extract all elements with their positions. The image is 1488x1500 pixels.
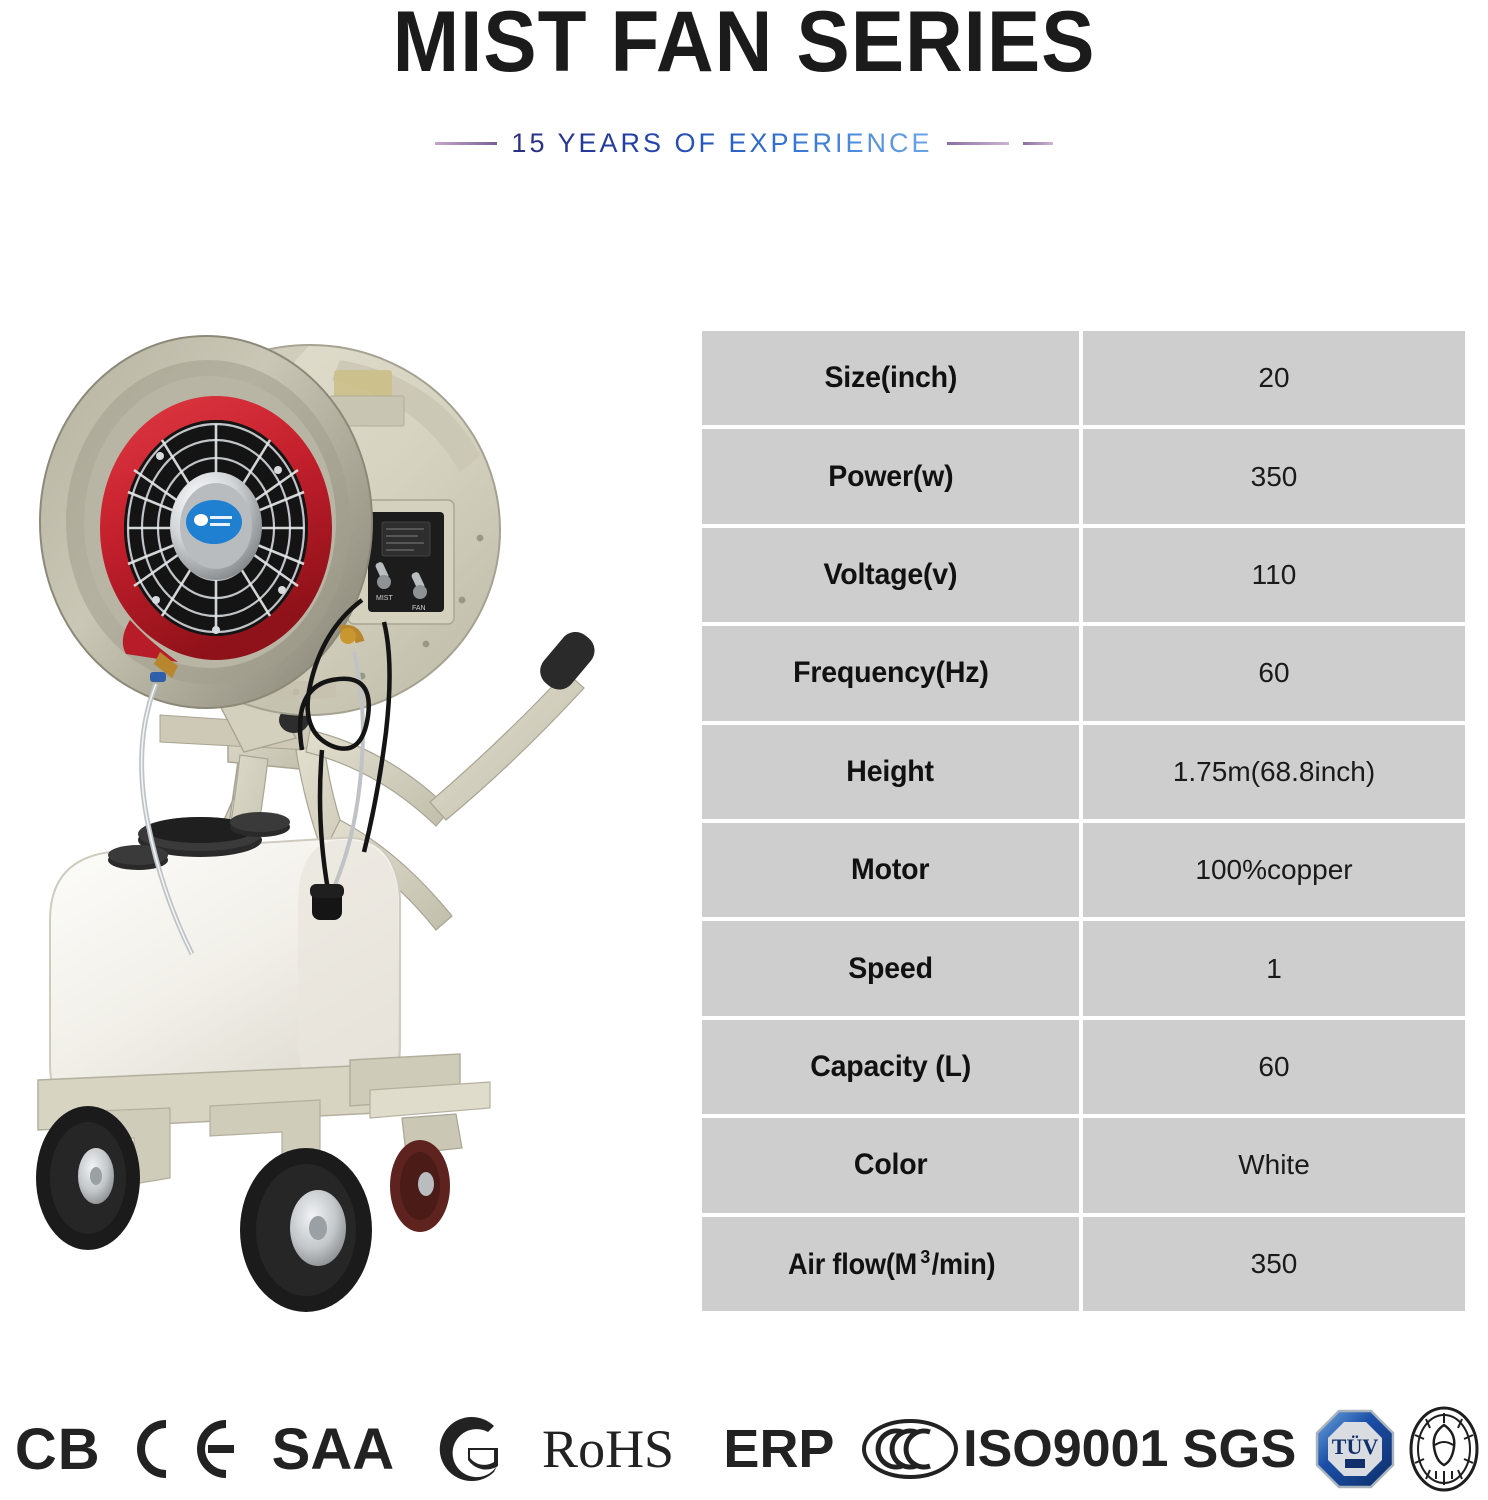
table-row: Voltage(v) 110 (702, 528, 1465, 626)
spec-value: 1.75m(68.8inch) (1083, 725, 1465, 819)
table-row: Color White (702, 1118, 1465, 1216)
oval-seal-icon (1405, 1405, 1483, 1493)
table-row: Air flow(M3/min) 350 (702, 1217, 1465, 1311)
spec-label: Frequency(Hz) (702, 626, 1079, 720)
power-plug (310, 884, 344, 920)
seal-logo (1399, 1398, 1488, 1500)
spec-value: 60 (1083, 1020, 1465, 1114)
tuv-badge-icon: TÜV (1313, 1407, 1397, 1491)
ce-logo (115, 1398, 248, 1500)
table-row: Size(inch) 20 (702, 331, 1465, 429)
spec-value: 100%copper (1083, 823, 1465, 917)
ccc-logo (857, 1398, 964, 1500)
tuv-logo: TÜV (1310, 1398, 1399, 1500)
spec-label: Size(inch) (702, 331, 1079, 425)
product-image: MIST FAN (10, 300, 670, 1320)
table-row: Speed 1 (702, 921, 1465, 1019)
wheel-front (240, 1148, 372, 1312)
specification-table: Size(inch) 20 Power(w) 350 Voltage(v) 11… (702, 331, 1465, 1311)
fan-grille (124, 420, 308, 636)
page-header: MIST FAN SERIES 15 YEARS OF EXPERIENCE (0, 0, 1488, 185)
cb-logo: CB (0, 1398, 115, 1500)
table-row: Frequency(Hz) 60 (702, 626, 1465, 724)
table-row: Capacity (L) 60 (702, 1020, 1465, 1118)
subtitle-row: 15 YEARS OF EXPERIENCE (0, 128, 1488, 159)
table-row: Height 1.75m(68.8inch) (702, 725, 1465, 823)
spec-value: White (1083, 1118, 1465, 1212)
svg-text:MIST: MIST (376, 595, 393, 602)
fan-hub (170, 472, 262, 580)
saa-logo: SAA (249, 1398, 418, 1500)
subtitle-dash-right (947, 142, 1009, 145)
spec-label: Motor (702, 823, 1079, 917)
table-row: Power(w) 350 (702, 429, 1465, 527)
rohs-logo: RoHS (515, 1398, 701, 1500)
gs-mark-icon (424, 1414, 508, 1484)
subtitle-dash-left (435, 142, 497, 145)
certification-logo-row: CB SAA RoHS ERP ISO9001 SGS (0, 1398, 1488, 1500)
page-title: MIST FAN SERIES (52, 0, 1436, 86)
spec-value: 1 (1083, 921, 1465, 1015)
table-row: Motor 100%copper (702, 823, 1465, 921)
gs-logo (417, 1398, 515, 1500)
spec-value: 20 (1083, 331, 1465, 425)
erp-logo: ERP (701, 1398, 856, 1500)
spec-label: Speed (702, 921, 1079, 1015)
sgs-logo: SGS (1168, 1398, 1310, 1500)
spec-value: 350 (1083, 429, 1465, 523)
spec-label: Color (702, 1118, 1079, 1212)
caster-wheel (390, 1114, 462, 1232)
spec-value: 110 (1083, 528, 1465, 622)
iso9001-logo: ISO9001 (963, 1398, 1168, 1500)
spec-label: Capacity (L) (702, 1020, 1079, 1114)
subtitle-dash-right-small (1023, 142, 1053, 145)
ccc-mark-icon (858, 1416, 962, 1482)
page-subtitle: 15 YEARS OF EXPERIENCE (511, 128, 932, 159)
svg-text:TÜV: TÜV (1332, 1434, 1379, 1459)
spec-label-airflow: Air flow(M3/min) (702, 1217, 1079, 1311)
spec-label: Height (702, 725, 1079, 819)
spec-value: 350 (1083, 1217, 1465, 1311)
spec-value: 60 (1083, 626, 1465, 720)
spec-label: Power(w) (702, 429, 1079, 523)
spec-label: Voltage(v) (702, 528, 1079, 622)
svg-text:FAN: FAN (412, 605, 426, 612)
wheel-rear-left (36, 1106, 140, 1250)
ce-mark-icon (122, 1418, 242, 1480)
